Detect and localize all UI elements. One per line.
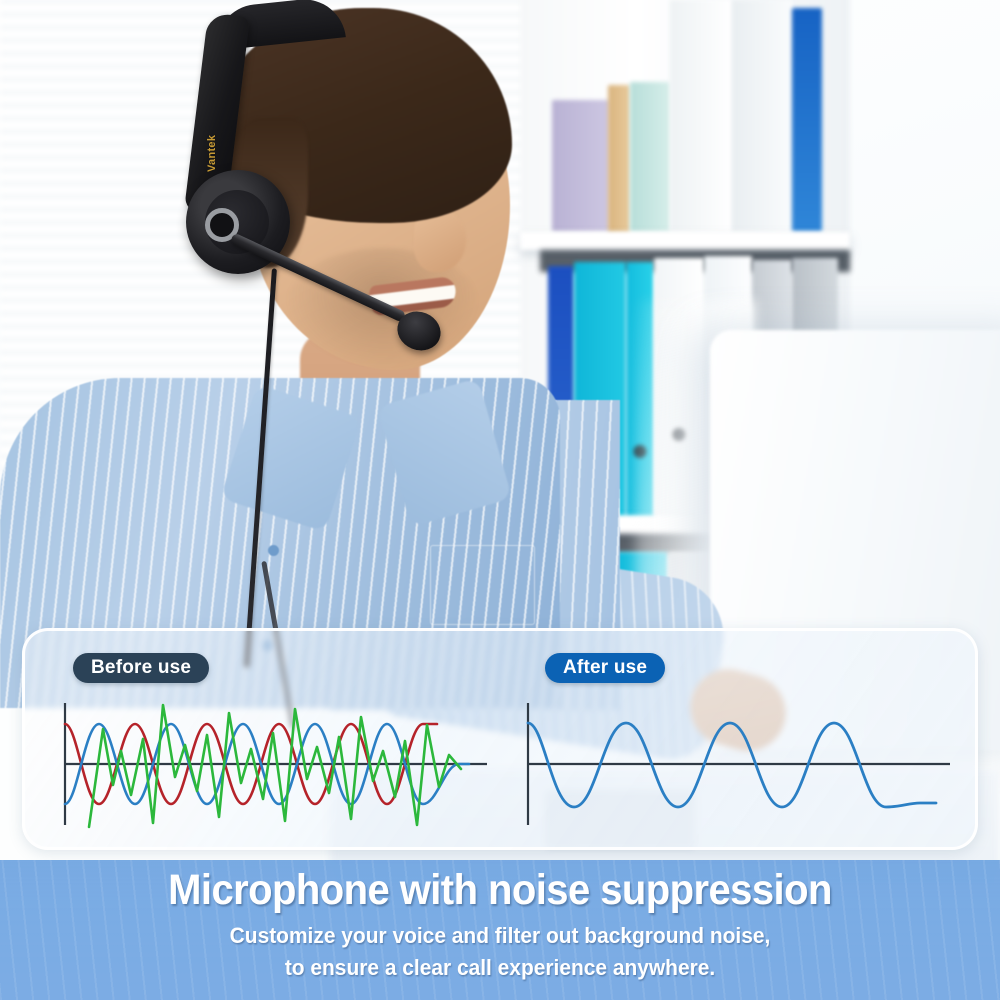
subline-1: Customize your voice and filter out back… xyxy=(35,920,965,952)
after-use-badge: After use xyxy=(545,653,665,683)
before-use-waveform-chart xyxy=(59,699,489,829)
comparison-panel: Before use After use xyxy=(22,628,978,850)
after-wave-svg xyxy=(522,699,952,829)
before-use-badge: Before use xyxy=(73,653,209,683)
before-use-section: Before use xyxy=(25,631,500,847)
after-use-waveform-chart xyxy=(522,699,952,829)
before-wave-svg xyxy=(59,699,489,829)
headline: Microphone with noise suppression xyxy=(35,868,965,913)
binder-white-top-2 xyxy=(732,0,792,232)
footer-band: Microphone with noise suppression Custom… xyxy=(0,860,1000,1000)
subline-2: to ensure a clear call experience anywhe… xyxy=(35,952,965,984)
brand-logo-vantek: Vantek xyxy=(206,128,232,172)
binder-white-top-1 xyxy=(670,0,732,232)
person: Vantek xyxy=(0,0,640,700)
shirt-button xyxy=(268,545,279,556)
binder-blue-top xyxy=(792,8,822,232)
product-feature-image: Vantek Before use After xyxy=(0,0,1000,1000)
background-photo: Vantek xyxy=(0,0,1000,1000)
after-use-section: After use xyxy=(500,631,975,847)
shirt-pocket xyxy=(430,545,535,625)
